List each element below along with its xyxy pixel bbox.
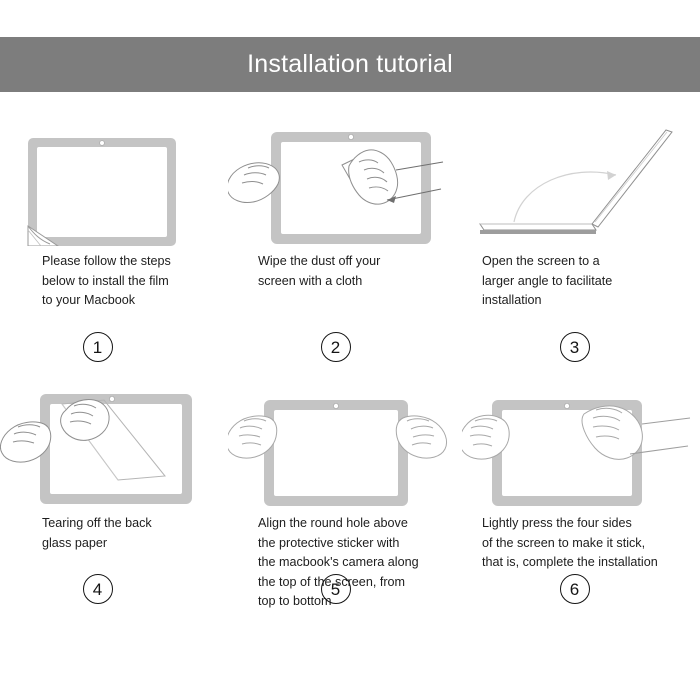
step-number-badge: 2 [321,332,351,362]
press-arrow-upper-icon [642,418,690,424]
step-1-caption: Please follow the steps below to install… [0,246,233,311]
step-card-4: Tearing off the back glass paper 4 [0,380,233,553]
tablet-device-icon [264,400,408,506]
tablet-device-icon [271,132,431,244]
step-4-illustration [0,380,233,508]
step-card-1: Please follow the steps below to install… [0,118,233,311]
step-6-caption: Lightly press the four sides of the scre… [462,508,695,573]
step-number-badge: 4 [83,574,113,604]
step-3-number-wrap: 3 [458,332,691,362]
step-4-number-wrap: 4 [0,574,214,604]
tablet-device-icon [40,394,192,504]
step-4-caption: Tearing off the back glass paper [0,508,233,553]
step-5-number-wrap: 5 [219,574,452,604]
step-6-illustration [462,380,695,508]
step-1-illustration [0,118,233,246]
banner: Installation tutorial [0,37,700,92]
tablet-device-icon [28,138,176,246]
step-card-6: Lightly press the four sides of the scre… [462,380,695,573]
step-5-illustration [228,380,461,508]
step-card-2: Wipe the dust off your screen with a clo… [228,118,461,291]
step-number-badge: 3 [560,332,590,362]
step-number-badge: 6 [560,574,590,604]
step-6-number-wrap: 6 [458,574,691,604]
step-3-illustration [462,118,695,246]
step-3-caption: Open the screen to a larger angle to fac… [462,246,695,311]
step-2-number-wrap: 2 [219,332,452,362]
laptop-lid-icon [592,130,672,227]
step-1-number-wrap: 1 [0,332,214,362]
step-2-caption: Wipe the dust off your screen with a clo… [228,246,461,291]
laptop-base-icon [480,224,596,234]
step-2-illustration [228,118,461,246]
step-number-badge: 1 [83,332,113,362]
step-card-5: Align the round hole above the protectiv… [228,380,461,612]
step-card-3: Open the screen to a larger angle to fac… [462,118,695,311]
page-title: Installation tutorial [247,52,453,77]
step-number-badge: 5 [321,574,351,604]
steps-grid: Please follow the steps below to install… [0,118,700,678]
open-angle-arrowhead-icon [607,171,616,180]
